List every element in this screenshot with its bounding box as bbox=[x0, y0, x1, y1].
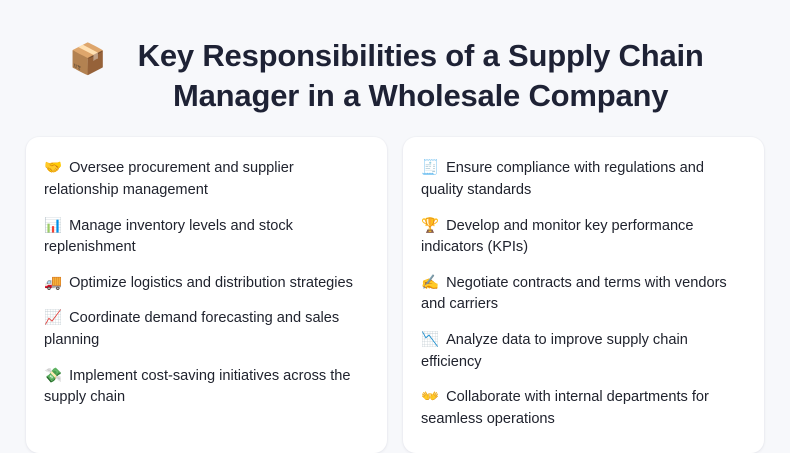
page-header: 📦 Key Responsibilities of a Supply Chain… bbox=[26, 26, 764, 115]
trophy-icon: 🏆 bbox=[421, 218, 439, 234]
list-item: ✍️Negotiate contracts and terms with ven… bbox=[421, 266, 746, 323]
list-item: 👐Collaborate with internal departments f… bbox=[421, 380, 746, 437]
list-item: 🚚Optimize logistics and distribution str… bbox=[44, 266, 369, 302]
list-item-label: Collaborate with internal departments fo… bbox=[421, 389, 709, 427]
list-item-label: Develop and monitor key performance indi… bbox=[421, 218, 693, 256]
infographic-page: 📦 Key Responsibilities of a Supply Chain… bbox=[0, 0, 790, 452]
left-responsibilities-card: 🤝Oversee procurement and supplier relati… bbox=[26, 137, 387, 453]
list-item: 🏆Develop and monitor key performance ind… bbox=[421, 209, 746, 266]
open-hands-icon: 👐 bbox=[421, 389, 439, 405]
right-responsibilities-card: 🧾Ensure compliance with regulations and … bbox=[403, 137, 764, 453]
page-title: Key Responsibilities of a Supply Chain M… bbox=[121, 36, 721, 115]
list-item-label: Analyze data to improve supply chain eff… bbox=[421, 332, 688, 370]
money-with-wings-icon: 💸 bbox=[44, 368, 62, 384]
responsibility-columns: 🤝Oversee procurement and supplier relati… bbox=[26, 137, 764, 453]
writing-hand-icon: ✍️ bbox=[421, 275, 439, 291]
list-item-label: Ensure compliance with regulations and q… bbox=[421, 160, 704, 198]
delivery-truck-icon: 🚚 bbox=[44, 275, 62, 291]
list-item: 📉Analyze data to improve supply chain ef… bbox=[421, 323, 746, 380]
list-item-label: Optimize logistics and distribution stra… bbox=[69, 275, 353, 291]
chart-decreasing-icon: 📉 bbox=[421, 332, 439, 348]
chart-increasing-icon: 📈 bbox=[44, 310, 62, 326]
list-item-label: Oversee procurement and supplier relatio… bbox=[44, 160, 294, 198]
list-item-label: Implement cost-saving initiatives across… bbox=[44, 368, 351, 406]
list-item: 📈Coordinate demand forecasting and sales… bbox=[44, 301, 369, 358]
list-item: 💸Implement cost-saving initiatives acros… bbox=[44, 359, 369, 416]
list-item-label: Coordinate demand forecasting and sales … bbox=[44, 310, 339, 348]
list-item: 🤝Oversee procurement and supplier relati… bbox=[44, 151, 369, 208]
handshake-icon: 🤝 bbox=[44, 160, 62, 176]
list-item-label: Manage inventory levels and stock replen… bbox=[44, 218, 293, 256]
receipt-icon: 🧾 bbox=[421, 160, 439, 176]
package-icon: 📦 bbox=[69, 44, 106, 76]
list-item: 📊Manage inventory levels and stock reple… bbox=[44, 209, 369, 266]
list-item-label: Negotiate contracts and terms with vendo… bbox=[421, 275, 727, 313]
list-item: 🧾Ensure compliance with regulations and … bbox=[421, 151, 746, 208]
bar-chart-icon: 📊 bbox=[44, 218, 62, 234]
